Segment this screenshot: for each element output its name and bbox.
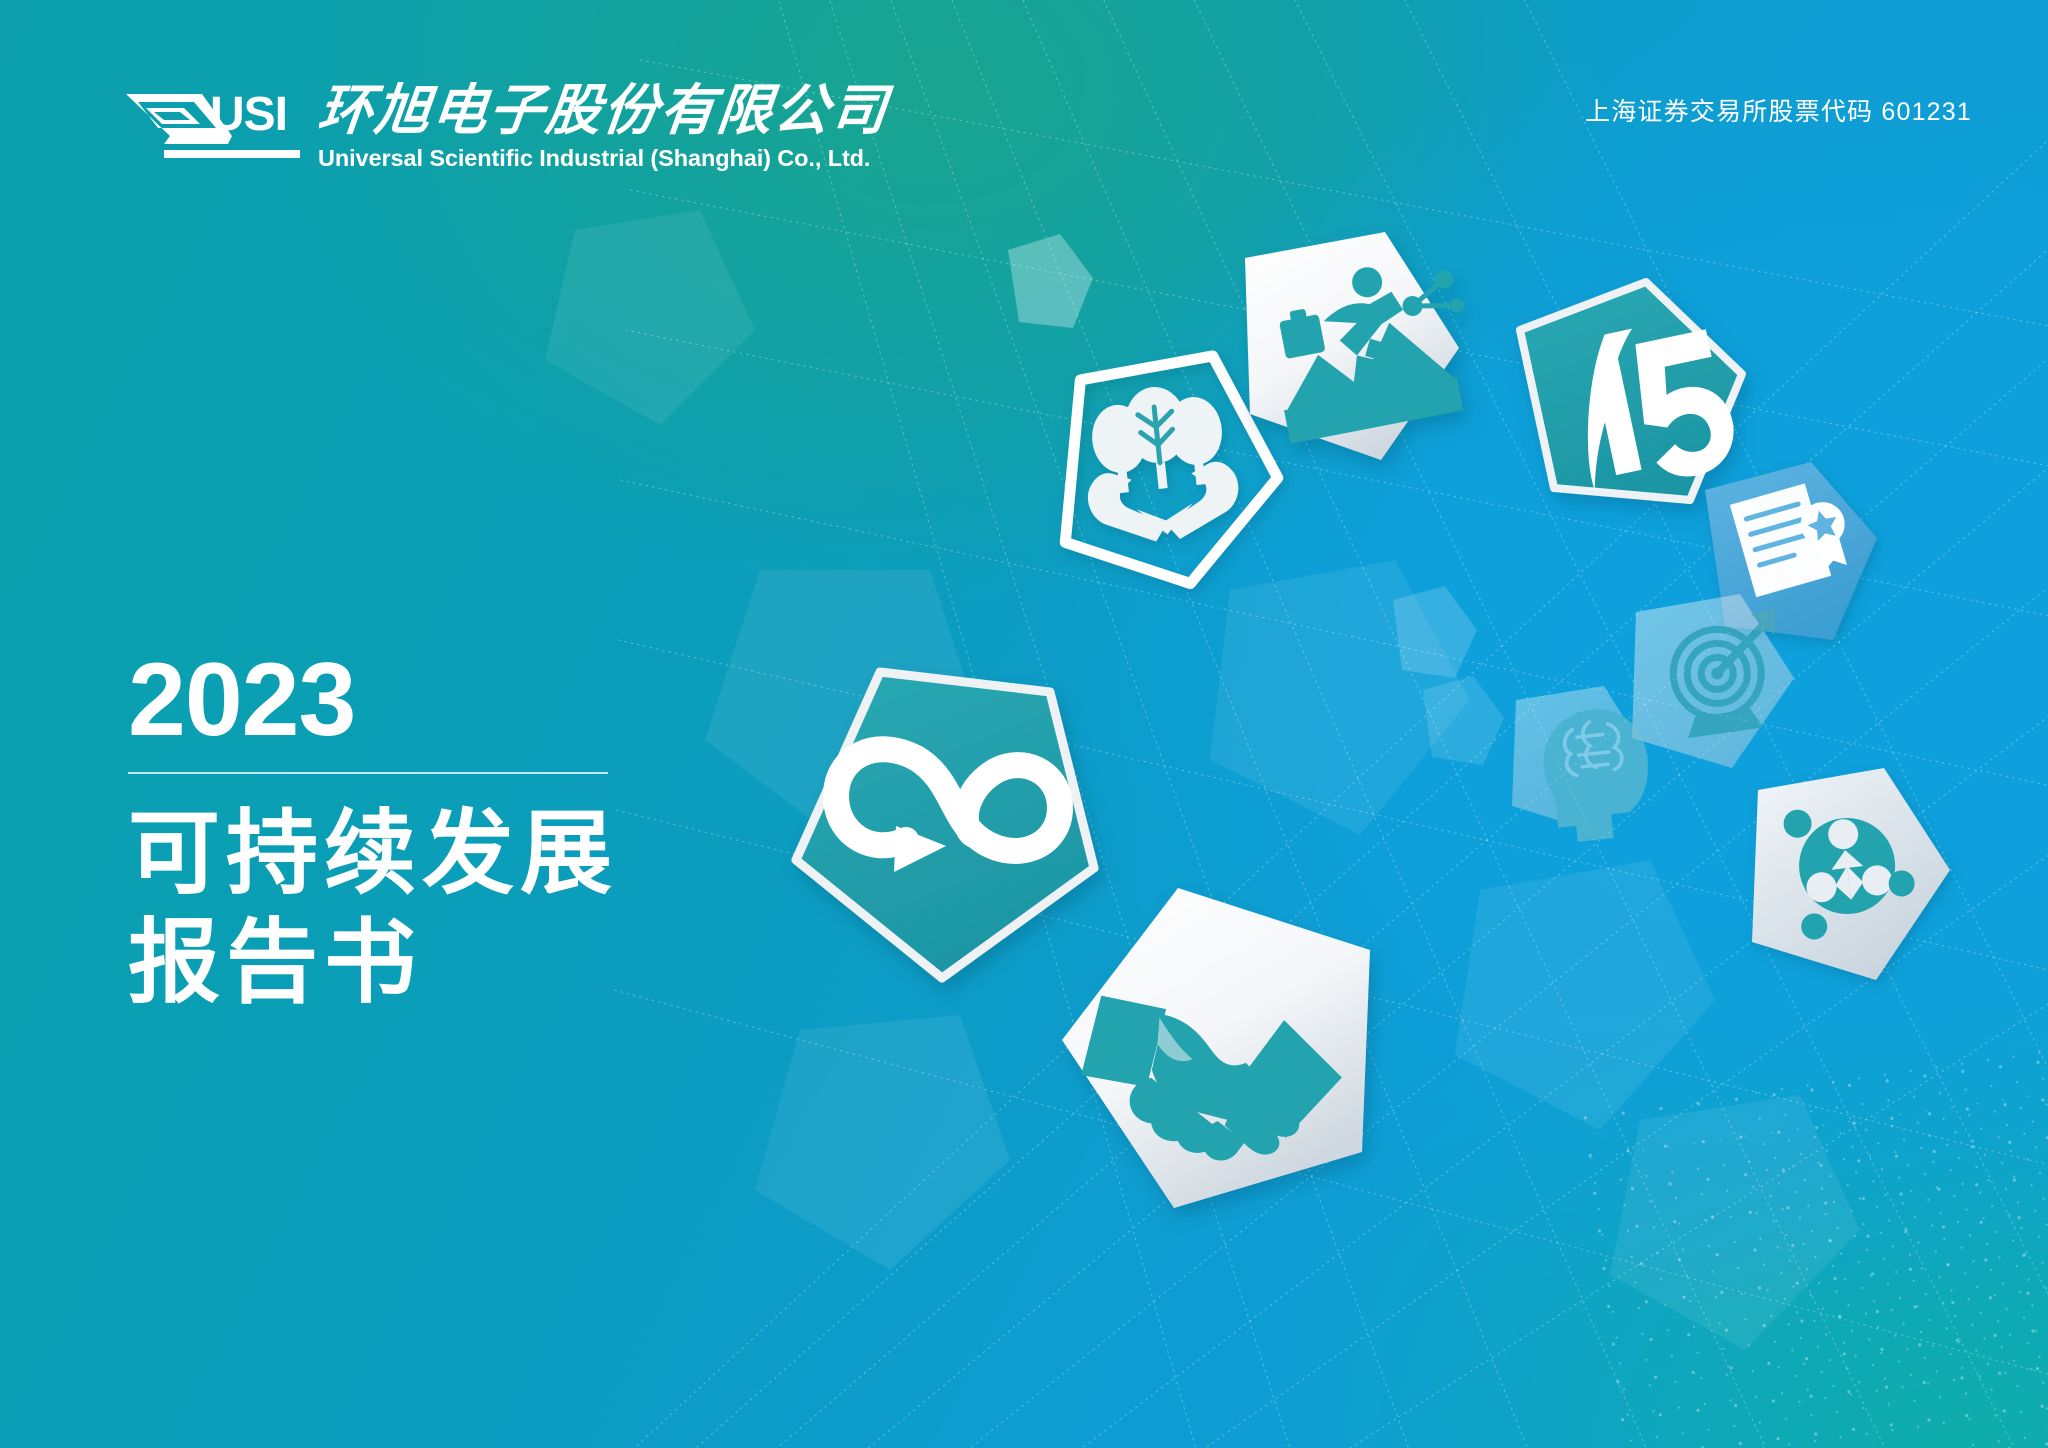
dot-grid-overlay: [1564, 1038, 2048, 1448]
report-cover: USI 环旭电子股份有限公司 Universal Scientific Indu…: [0, 0, 2048, 1448]
badge-anniversary-15[interactable]: [1520, 282, 1742, 500]
badge-community[interactable]: [1752, 768, 1950, 980]
hands-holding-trees-icon: [1077, 379, 1243, 548]
badge-partnership[interactable]: [1062, 888, 1370, 1208]
badge-circular-economy[interactable]: [796, 672, 1094, 978]
badge-target-goal[interactable]: [1632, 594, 1794, 768]
badge-career-growth[interactable]: [1245, 232, 1484, 460]
